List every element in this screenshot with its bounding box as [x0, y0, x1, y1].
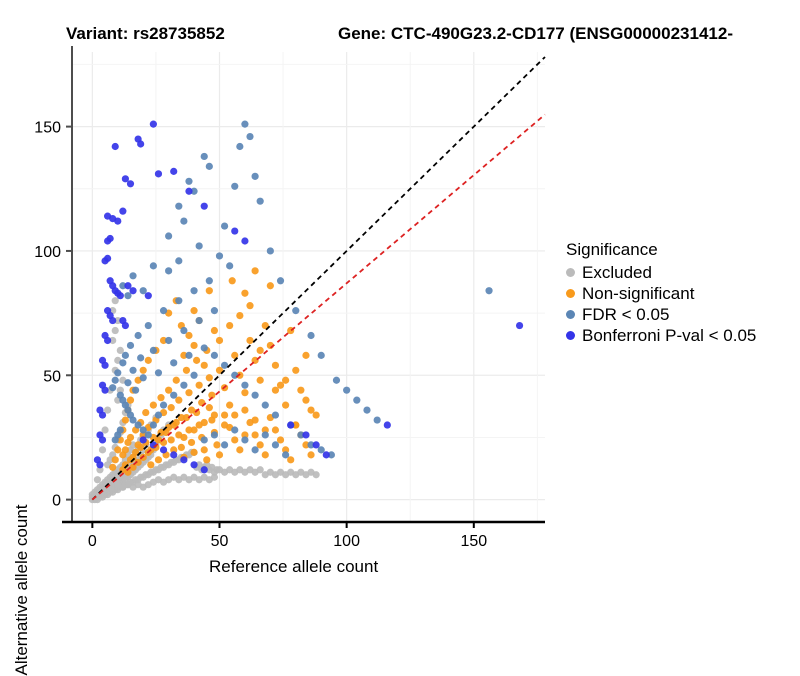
- data-point: [307, 332, 314, 339]
- data-point: [196, 382, 203, 389]
- data-point: [140, 374, 147, 381]
- data-point: [137, 354, 144, 361]
- legend-item-2[interactable]: FDR < 0.05: [566, 304, 796, 325]
- data-point: [313, 441, 320, 448]
- data-point: [175, 297, 182, 304]
- data-point: [246, 133, 253, 140]
- data-point: [150, 347, 157, 354]
- data-point: [241, 237, 248, 244]
- data-point: [140, 367, 147, 374]
- data-point: [213, 441, 220, 448]
- data-point: [101, 362, 108, 369]
- data-point: [323, 451, 330, 458]
- data-point: [185, 426, 192, 433]
- data-point: [117, 426, 124, 433]
- data-point: [231, 183, 238, 190]
- data-point: [201, 344, 208, 351]
- data-point: [190, 342, 197, 349]
- data-point: [313, 411, 320, 418]
- series-non-significant: [109, 267, 320, 476]
- data-point: [226, 322, 233, 329]
- data-point: [343, 387, 350, 394]
- data-point: [277, 277, 284, 284]
- data-point: [190, 449, 197, 456]
- data-point: [170, 168, 177, 175]
- data-point: [211, 431, 218, 438]
- data-point: [226, 262, 233, 269]
- data-point: [196, 317, 203, 324]
- data-point: [272, 387, 279, 394]
- data-point: [94, 476, 101, 483]
- data-point: [150, 402, 157, 409]
- data-point: [99, 411, 106, 418]
- data-point: [201, 153, 208, 160]
- data-point: [101, 387, 108, 394]
- data-point: [145, 357, 152, 364]
- legend-dot-icon: [566, 289, 575, 298]
- x-tick-label: 50: [211, 533, 229, 550]
- data-point: [236, 446, 243, 453]
- data-point: [173, 377, 180, 384]
- data-point: [353, 397, 360, 404]
- data-point: [485, 287, 492, 294]
- data-point: [307, 451, 314, 458]
- data-point: [211, 352, 218, 359]
- reference-line-identity: [92, 57, 545, 500]
- data-point: [124, 379, 131, 386]
- legend-dot-icon: [566, 331, 575, 340]
- data-point: [147, 461, 154, 468]
- legend-item-label: Bonferroni P-val < 0.05: [582, 325, 756, 346]
- data-point: [180, 327, 187, 334]
- data-point: [178, 444, 185, 451]
- data-point: [135, 332, 142, 339]
- data-point: [142, 409, 149, 416]
- data-point: [221, 441, 228, 448]
- data-point: [160, 479, 167, 486]
- data-point: [185, 178, 192, 185]
- x-axis-label: Reference allele count: [209, 557, 378, 577]
- data-point: [132, 387, 139, 394]
- series-fdr-0-05: [109, 121, 493, 459]
- x-tick-label: 0: [88, 533, 97, 550]
- data-point: [104, 255, 111, 262]
- data-point: [196, 242, 203, 249]
- data-point: [119, 359, 126, 366]
- data-point: [188, 439, 195, 446]
- data-point: [119, 208, 126, 215]
- data-point: [203, 456, 210, 463]
- data-point: [206, 374, 213, 381]
- data-point: [216, 451, 223, 458]
- data-point: [374, 416, 381, 423]
- chart-stage: Variant: rs28735852 Gene: CTC-490G23.2-C…: [0, 0, 800, 600]
- data-point: [246, 337, 253, 344]
- data-point: [109, 317, 116, 324]
- data-point: [157, 394, 164, 401]
- data-point: [109, 384, 116, 391]
- data-point: [241, 436, 248, 443]
- legend: Significance ExcludedNon-significantFDR …: [566, 240, 796, 346]
- legend-item-label: Excluded: [582, 262, 652, 283]
- data-point: [229, 277, 236, 284]
- data-point: [252, 446, 259, 453]
- data-point: [114, 481, 121, 488]
- y-tick-label: 100: [34, 244, 61, 261]
- data-point: [272, 426, 279, 433]
- data-point: [241, 121, 248, 128]
- data-point: [150, 262, 157, 269]
- data-point: [221, 222, 228, 229]
- data-point: [231, 227, 238, 234]
- data-point: [246, 302, 253, 309]
- y-tick-label: 0: [52, 493, 61, 510]
- data-point: [127, 180, 134, 187]
- data-point: [185, 389, 192, 396]
- data-point: [282, 377, 289, 384]
- x-tick-label: 100: [333, 533, 360, 550]
- data-point: [190, 307, 197, 314]
- data-point: [292, 307, 299, 314]
- data-point: [201, 362, 208, 369]
- data-point: [226, 402, 233, 409]
- data-point: [262, 402, 269, 409]
- data-point: [185, 352, 192, 359]
- legend-item-0[interactable]: Excluded: [566, 262, 796, 283]
- data-points: [89, 121, 523, 504]
- legend-dot-icon: [566, 268, 575, 277]
- data-point: [165, 267, 172, 274]
- data-point: [267, 247, 274, 254]
- data-point: [150, 421, 157, 428]
- data-point: [384, 421, 391, 428]
- data-point: [201, 203, 208, 210]
- legend-dot-icon: [566, 310, 575, 319]
- data-point: [168, 436, 175, 443]
- data-point: [140, 436, 147, 443]
- data-point: [241, 290, 248, 297]
- data-point: [236, 312, 243, 319]
- data-point: [190, 372, 197, 379]
- data-point: [160, 446, 167, 453]
- data-point: [196, 421, 203, 428]
- data-point: [221, 411, 228, 418]
- data-point: [221, 362, 228, 369]
- data-point: [241, 407, 248, 414]
- data-point: [165, 232, 172, 239]
- data-point: [117, 292, 124, 299]
- data-point: [272, 411, 279, 418]
- data-point: [257, 377, 264, 384]
- x-tick-label: 150: [460, 533, 487, 550]
- data-point: [262, 451, 269, 458]
- data-point: [236, 143, 243, 150]
- data-point: [252, 416, 259, 423]
- data-point: [241, 382, 248, 389]
- data-point: [302, 352, 309, 359]
- data-point: [175, 431, 182, 438]
- data-point: [201, 436, 208, 443]
- data-point: [175, 257, 182, 264]
- data-point: [145, 322, 152, 329]
- data-point: [363, 407, 370, 414]
- data-point: [231, 411, 238, 418]
- data-point: [231, 426, 238, 433]
- data-point: [175, 203, 182, 210]
- legend-title: Significance: [566, 240, 796, 260]
- data-point: [150, 121, 157, 128]
- data-point: [211, 307, 218, 314]
- data-point: [292, 367, 299, 374]
- data-point: [122, 322, 129, 329]
- data-point: [257, 347, 264, 354]
- data-point: [208, 416, 215, 423]
- data-point: [231, 436, 238, 443]
- reference-lines: [92, 57, 545, 500]
- data-point: [201, 466, 208, 473]
- data-point: [173, 419, 180, 426]
- data-point: [114, 218, 121, 225]
- data-point: [127, 434, 134, 441]
- data-point: [282, 402, 289, 409]
- data-point: [252, 431, 259, 438]
- data-point: [190, 287, 197, 294]
- data-point: [262, 431, 269, 438]
- data-point: [114, 369, 121, 376]
- data-point: [122, 352, 129, 359]
- y-tick-label: 50: [43, 368, 61, 385]
- data-point: [99, 446, 106, 453]
- data-point: [127, 342, 134, 349]
- data-point: [165, 337, 172, 344]
- data-point: [516, 322, 523, 329]
- data-point: [257, 198, 264, 205]
- data-point: [168, 404, 175, 411]
- data-point: [282, 451, 289, 458]
- data-point: [129, 287, 136, 294]
- data-point: [170, 359, 177, 366]
- data-point: [170, 451, 177, 458]
- data-point: [302, 431, 309, 438]
- data-point: [206, 277, 213, 284]
- data-point: [155, 369, 162, 376]
- data-point: [99, 436, 106, 443]
- data-point: [185, 188, 192, 195]
- data-point: [107, 235, 114, 242]
- data-point: [183, 367, 190, 374]
- data-point: [180, 382, 187, 389]
- data-point: [122, 446, 129, 453]
- data-point: [104, 337, 111, 344]
- data-point: [170, 392, 177, 399]
- data-point: [129, 272, 136, 279]
- data-point: [318, 352, 325, 359]
- legend-items: ExcludedNon-significantFDR < 0.05Bonferr…: [566, 262, 796, 346]
- data-point: [180, 456, 187, 463]
- y-tick-label: 150: [34, 120, 61, 137]
- legend-item-1[interactable]: Non-significant: [566, 283, 796, 304]
- data-point: [216, 252, 223, 259]
- data-point: [313, 471, 320, 478]
- data-point: [206, 404, 213, 411]
- data-point: [287, 421, 294, 428]
- data-point: [160, 402, 167, 409]
- data-point: [297, 387, 304, 394]
- data-point: [160, 307, 167, 314]
- data-point: [145, 292, 152, 299]
- data-point: [206, 163, 213, 170]
- data-point: [114, 446, 121, 453]
- data-point: [252, 267, 259, 274]
- data-point: [155, 411, 162, 418]
- legend-item-3[interactable]: Bonferroni P-val < 0.05: [566, 325, 796, 346]
- data-point: [252, 392, 259, 399]
- data-point: [201, 446, 208, 453]
- data-point: [112, 143, 119, 150]
- data-point: [129, 367, 136, 374]
- data-point: [206, 287, 213, 294]
- data-point: [267, 282, 274, 289]
- data-point: [211, 327, 218, 334]
- legend-item-label: Non-significant: [582, 283, 694, 304]
- data-point: [252, 173, 259, 180]
- y-axis-label: Alternative allele count: [12, 504, 32, 675]
- data-point: [155, 456, 162, 463]
- data-point: [241, 389, 248, 396]
- data-point: [272, 362, 279, 369]
- data-point: [137, 140, 144, 147]
- data-point: [112, 327, 119, 334]
- data-point: [112, 377, 119, 384]
- data-point: [112, 456, 119, 463]
- data-point: [211, 474, 218, 481]
- data-point: [109, 464, 116, 471]
- data-point: [302, 397, 309, 404]
- data-point: [96, 461, 103, 468]
- legend-item-label: FDR < 0.05: [582, 304, 669, 325]
- data-point: [272, 441, 279, 448]
- data-point: [155, 170, 162, 177]
- data-point: [180, 218, 187, 225]
- data-point: [221, 421, 228, 428]
- data-point: [333, 377, 340, 384]
- data-point: [190, 461, 197, 468]
- data-point: [193, 357, 200, 364]
- data-point: [216, 337, 223, 344]
